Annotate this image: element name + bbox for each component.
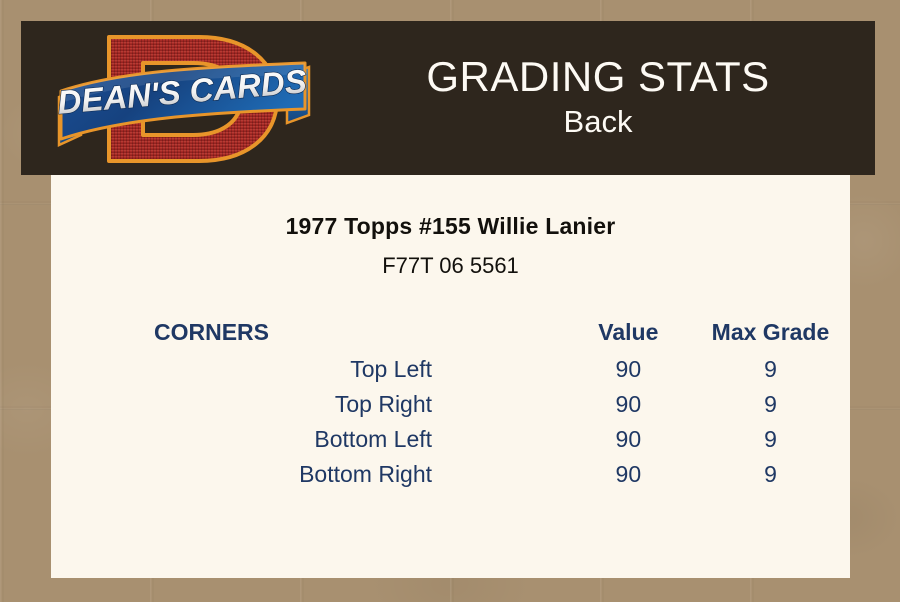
grading-stats-screen: DEAN'S CARDS GRADING STATS Back 1977 Top…: [0, 0, 900, 602]
page-subtitle: Back: [564, 103, 633, 142]
row-label: Top Left: [51, 352, 432, 387]
table-header-row: CORNERS Value Max Grade: [51, 312, 850, 352]
row-value: 90: [566, 422, 691, 457]
row-max-grade: 9: [691, 457, 850, 492]
row-label: Bottom Left: [51, 422, 432, 457]
row-value: 90: [566, 387, 691, 422]
table-row: Bottom Right 90 9: [51, 457, 850, 492]
table-row: Top Right 90 9: [51, 387, 850, 422]
row-max-grade: 9: [691, 387, 850, 422]
row-spacer: [432, 457, 566, 492]
row-value: 90: [566, 352, 691, 387]
column-spacer: [432, 312, 566, 352]
column-header-corners: CORNERS: [51, 312, 432, 352]
table-row: Bottom Left 90 9: [51, 422, 850, 457]
row-spacer: [432, 422, 566, 457]
row-max-grade: 9: [691, 422, 850, 457]
card-title: 1977 Topps #155 Willie Lanier: [51, 213, 850, 240]
row-label: Bottom Right: [51, 457, 432, 492]
row-value: 90: [566, 457, 691, 492]
column-header-value: Value: [566, 312, 691, 352]
deans-cards-logo: DEAN'S CARDS: [51, 27, 315, 171]
header-bar: DEAN'S CARDS GRADING STATS Back: [21, 21, 875, 175]
page-title: GRADING STATS: [426, 55, 769, 99]
row-max-grade: 9: [691, 352, 850, 387]
row-label: Top Right: [51, 387, 432, 422]
row-spacer: [432, 387, 566, 422]
row-spacer: [432, 352, 566, 387]
header-title-group: GRADING STATS Back: [321, 21, 875, 175]
content-panel: 1977 Topps #155 Willie Lanier F77T 06 55…: [51, 175, 850, 578]
table-row: Top Left 90 9: [51, 352, 850, 387]
corners-stats-table: CORNERS Value Max Grade Top Left 90 9 To…: [51, 312, 850, 492]
column-header-max-grade: Max Grade: [691, 312, 850, 352]
table-body: Top Left 90 9 Top Right 90 9 Bottom Left…: [51, 352, 850, 492]
card-serial-number: F77T 06 5561: [51, 253, 850, 279]
